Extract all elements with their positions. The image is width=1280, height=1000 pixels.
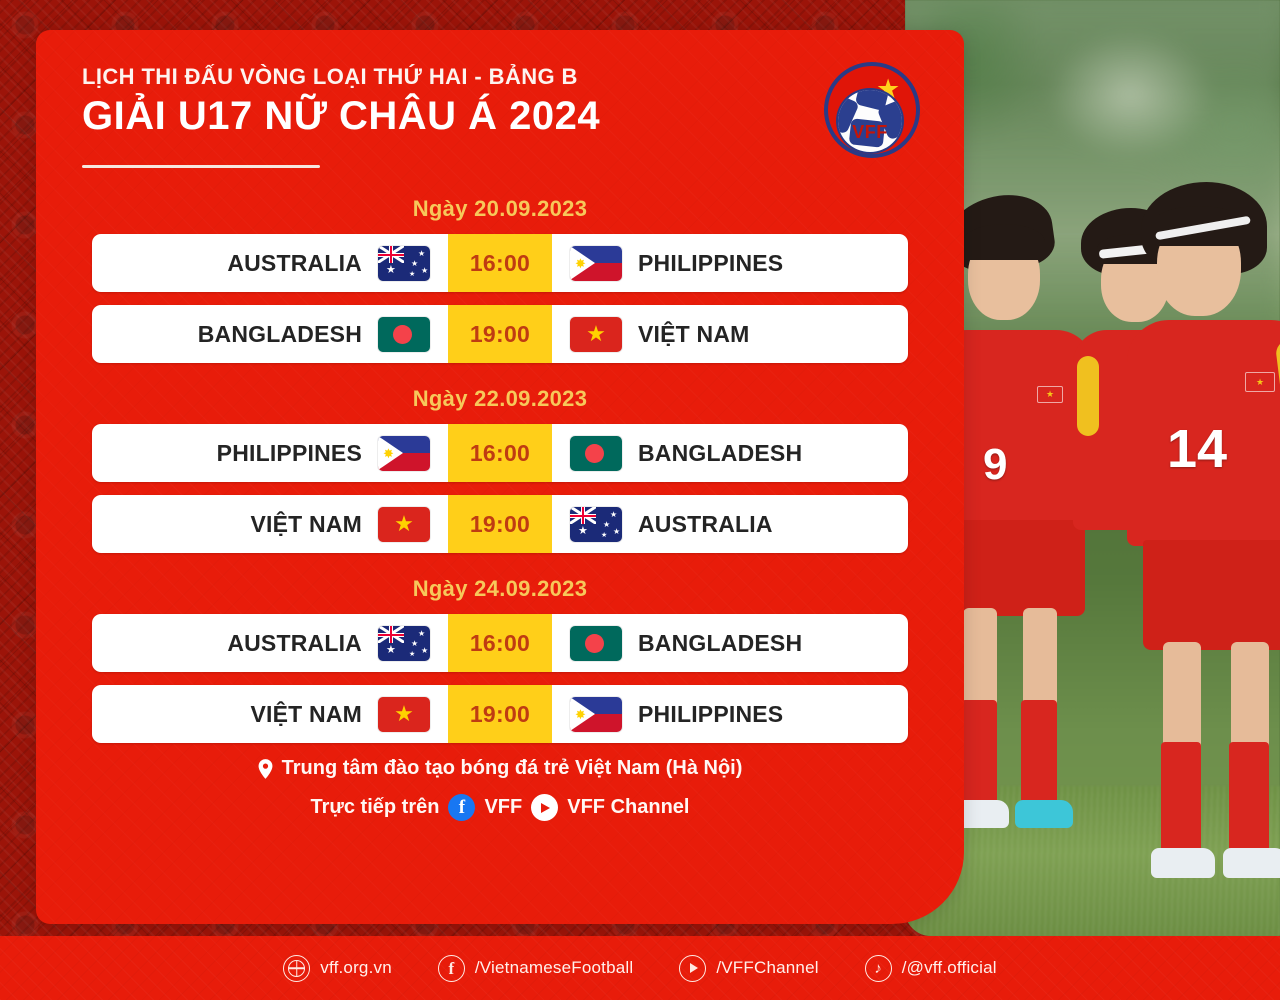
bangladesh-flag-icon <box>378 317 430 352</box>
facebook-icon[interactable]: f <box>448 794 475 821</box>
social-bar: vff.org.vn f /VietnameseFootball /VFFCha… <box>0 936 1280 1000</box>
match-schedule: Ngày 20.09.2023 AUSTRALIA ★ ★ ★ ★ ★ <box>82 186 918 743</box>
match-time: 19:00 <box>448 685 552 743</box>
philippines-flag-icon: ✸ <box>570 697 622 732</box>
logo-vff-text: VFF <box>838 122 902 143</box>
australia-flag-icon: ★ ★ ★ ★ ★ <box>378 246 430 281</box>
day-group: Ngày 20.09.2023 AUSTRALIA ★ ★ ★ ★ ★ <box>82 186 918 363</box>
home-side: AUSTRALIA ★ ★ ★ ★ ★ <box>92 234 448 292</box>
away-side: ✸ PHILIPPINES <box>552 234 908 292</box>
away-team-name: BANGLADESH <box>638 440 802 467</box>
home-side: VIỆT NAM ★ <box>92 495 448 553</box>
date-label: Ngày 24.09.2023 <box>82 566 918 614</box>
match-time: 16:00 <box>448 234 552 292</box>
away-side: BANGLADESH <box>552 424 908 482</box>
match-time: 19:00 <box>448 305 552 363</box>
social-youtube-label: /VFFChannel <box>716 958 818 978</box>
social-tiktok-label: /@vff.official <box>902 958 997 978</box>
match-time: 16:00 <box>448 614 552 672</box>
venue-line: Trung tâm đào tạo bóng đá trẻ Việt Nam (… <box>82 757 918 780</box>
match-row[interactable]: AUSTRALIA ★ ★ ★ ★ ★ 16:00 <box>92 234 908 292</box>
social-website-label: vff.org.vn <box>320 958 392 978</box>
bangladesh-flag-icon <box>570 436 622 471</box>
social-youtube[interactable]: /VFFChannel <box>679 955 818 982</box>
vietnam-flag-icon: ★ <box>570 317 622 352</box>
philippines-flag-icon: ✸ <box>378 436 430 471</box>
date-label: Ngày 20.09.2023 <box>82 186 918 234</box>
home-team-name: VIỆT NAM <box>251 701 363 728</box>
location-pin-icon <box>258 759 273 779</box>
away-team-name: PHILIPPINES <box>638 250 783 277</box>
broadcast-line: Trực tiếp trên f VFF VFF Channel <box>82 794 918 821</box>
vietnam-flag-icon: ★ <box>378 697 430 732</box>
youtube-icon <box>679 955 706 982</box>
match-row[interactable]: PHILIPPINES ✸ 16:00 BANGLADESH <box>92 424 908 482</box>
australia-flag-icon: ★ ★ ★ ★ ★ <box>570 507 622 542</box>
away-team-name: PHILIPPINES <box>638 701 783 728</box>
away-side: ★ VIỆT NAM <box>552 305 908 363</box>
vietnam-flag-icon: ★ <box>378 507 430 542</box>
away-team-name: VIỆT NAM <box>638 321 750 348</box>
vff-logo-icon: ★ VFF <box>824 62 920 158</box>
home-team-name: BANGLADESH <box>198 321 362 348</box>
date-label: Ngày 22.09.2023 <box>82 376 918 424</box>
match-time: 16:00 <box>448 424 552 482</box>
match-time: 19:00 <box>448 495 552 553</box>
poster-title: GIẢI U17 NỮ CHÂU Á 2024 <box>82 94 918 139</box>
home-team-name: AUSTRALIA <box>227 250 362 277</box>
philippines-flag-icon: ✸ <box>570 246 622 281</box>
away-side: BANGLADESH <box>552 614 908 672</box>
poster-subtitle: LỊCH THI ĐẤU VÒNG LOẠI THỨ HAI - BẢNG B <box>82 64 918 90</box>
away-side: ★ ★ ★ ★ ★ AUSTRALIA <box>552 495 908 553</box>
day-group: Ngày 24.09.2023 AUSTRALIA ★ ★ ★ ★ ★ <box>82 566 918 743</box>
broadcast-prefix: Trực tiếp trên <box>311 796 440 819</box>
social-facebook[interactable]: f /VietnameseFootball <box>438 955 633 982</box>
tiktok-icon: ♪ <box>865 955 892 982</box>
logo-football-icon: VFF <box>836 88 904 154</box>
match-row[interactable]: BANGLADESH 19:00 ★ VIỆT NAM <box>92 305 908 363</box>
venue-text: Trung tâm đào tạo bóng đá trẻ Việt Nam (… <box>282 757 743 780</box>
match-row[interactable]: VIỆT NAM ★ 19:00 ✸ PHILIPPINES <box>92 685 908 743</box>
bangladesh-flag-icon <box>570 626 622 661</box>
home-team-name: VIỆT NAM <box>251 511 363 538</box>
youtube-channel-label: VFF Channel <box>567 796 689 819</box>
match-row[interactable]: VIỆT NAM ★ 19:00 ★ ★ ★ ★ ★ <box>92 495 908 553</box>
home-side: PHILIPPINES ✸ <box>92 424 448 482</box>
home-side: BANGLADESH <box>92 305 448 363</box>
social-website[interactable]: vff.org.vn <box>283 955 392 982</box>
poster-header: LỊCH THI ĐẤU VÒNG LOẠI THỨ HAI - BẢNG B … <box>82 64 918 168</box>
poster-root: ★ 9 ★ ★ 14 <box>0 0 1280 1000</box>
away-side: ✸ PHILIPPINES <box>552 685 908 743</box>
facebook-icon: f <box>438 955 465 982</box>
home-side: VIỆT NAM ★ <box>92 685 448 743</box>
home-team-name: AUSTRALIA <box>227 630 362 657</box>
title-underline <box>82 165 320 168</box>
youtube-icon[interactable] <box>531 794 558 821</box>
facebook-channel-label: VFF <box>484 796 522 819</box>
social-facebook-label: /VietnameseFootball <box>475 958 633 978</box>
globe-icon <box>283 955 310 982</box>
match-row[interactable]: AUSTRALIA ★ ★ ★ ★ ★ 16:00 <box>92 614 908 672</box>
home-side: AUSTRALIA ★ ★ ★ ★ ★ <box>92 614 448 672</box>
australia-flag-icon: ★ ★ ★ ★ ★ <box>378 626 430 661</box>
day-group: Ngày 22.09.2023 PHILIPPINES ✸ 16:00 BANG… <box>82 376 918 553</box>
home-team-name: PHILIPPINES <box>217 440 362 467</box>
schedule-card: LỊCH THI ĐẤU VÒNG LOẠI THỨ HAI - BẢNG B … <box>36 30 964 924</box>
social-tiktok[interactable]: ♪ /@vff.official <box>865 955 997 982</box>
away-team-name: BANGLADESH <box>638 630 802 657</box>
away-team-name: AUSTRALIA <box>638 511 773 538</box>
